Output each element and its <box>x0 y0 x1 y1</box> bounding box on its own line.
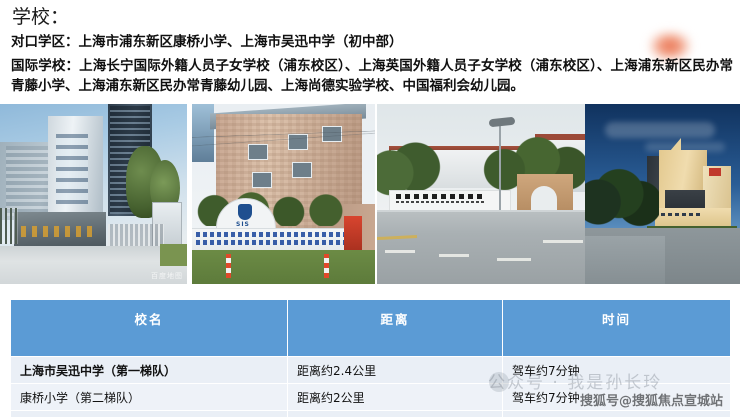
photo-ivy-school-sis-building: SIS <box>192 104 375 284</box>
map-watermark: 百度地图 <box>151 271 183 281</box>
column-header-school: 校名 <box>11 300 288 357</box>
road-marking <box>497 258 531 261</box>
page-title: 学校： <box>12 6 69 28</box>
table-row: 上海英国学校 距离约2.3公里 驾车约7分钟 <box>11 411 731 417</box>
cell-time: 驾车约7分钟 <box>503 357 731 384</box>
traffic-cone <box>324 254 329 278</box>
cell-school: 康桥小学（第二梯队） <box>11 384 288 411</box>
watermark-avatar <box>489 372 509 392</box>
road-marking <box>543 240 583 243</box>
road <box>585 236 665 284</box>
column-header-distance: 距离 <box>288 300 503 357</box>
road <box>377 212 585 284</box>
sis-label: SIS <box>236 221 250 228</box>
stone-name-wall <box>14 212 106 250</box>
school-sign-wall <box>655 208 731 228</box>
table-row: 上海市吴迅中学（第一梯队） 距离约2.4公里 驾车约7分钟 <box>11 357 731 384</box>
road-marking <box>439 254 469 257</box>
cell-distance: 距离约2.3公里 <box>288 411 503 417</box>
red-door <box>344 216 362 252</box>
cell-time: 驾车约7分钟 <box>503 411 731 417</box>
arch-opening <box>531 186 557 212</box>
power-lines <box>192 122 375 148</box>
blue-name-band <box>192 228 344 251</box>
center-tower <box>48 116 103 221</box>
window <box>292 162 312 178</box>
trees-left <box>377 138 447 196</box>
sis-shield-icon <box>238 204 252 220</box>
road-marking <box>385 250 415 253</box>
window <box>252 172 272 188</box>
district-school-line: 对口学区：上海市浦东新区康桥小学、上海市吴迅中学（初中部） <box>11 34 403 51</box>
traffic-cone <box>226 254 231 278</box>
school-name-sign <box>389 190 511 212</box>
photo-british-international-school-pudong <box>585 104 740 284</box>
photo-strip: 百度地图 SIS <box>0 104 740 284</box>
trees-left <box>585 160 659 230</box>
photo-wuxun-middle-school-sign <box>377 104 585 284</box>
cell-distance: 距离约2.4公里 <box>288 357 503 384</box>
watermark-sohu: 搜狐号@搜狐焦点宣城站 <box>580 390 723 409</box>
international-schools-paragraph: 国际学校：上海长宁国际外籍人员子女学校（浦东校区）、上海英国外籍人员子女学校（浦… <box>11 56 733 96</box>
lawn <box>192 250 375 284</box>
cloud <box>605 122 715 138</box>
slide-page: 学校： 对口学区：上海市浦东新区康桥小学、上海市吴迅中学（初中部） 国际学校：上… <box>0 0 740 417</box>
cell-distance: 距离约2公里 <box>288 384 503 411</box>
gate-fence <box>0 208 18 244</box>
cell-school: 上海英国学校 <box>11 411 288 417</box>
column-header-time: 时间 <box>503 300 731 357</box>
red-flag <box>709 168 721 176</box>
photo-shanghai-experimental-school-gate: 百度地图 <box>0 104 187 284</box>
table-header-row: 校名 距离 时间 <box>11 300 731 357</box>
street-lamp-pole <box>499 120 501 216</box>
cell-school: 上海市吴迅中学（第一梯队） <box>11 357 288 384</box>
grass-patch <box>160 244 187 266</box>
